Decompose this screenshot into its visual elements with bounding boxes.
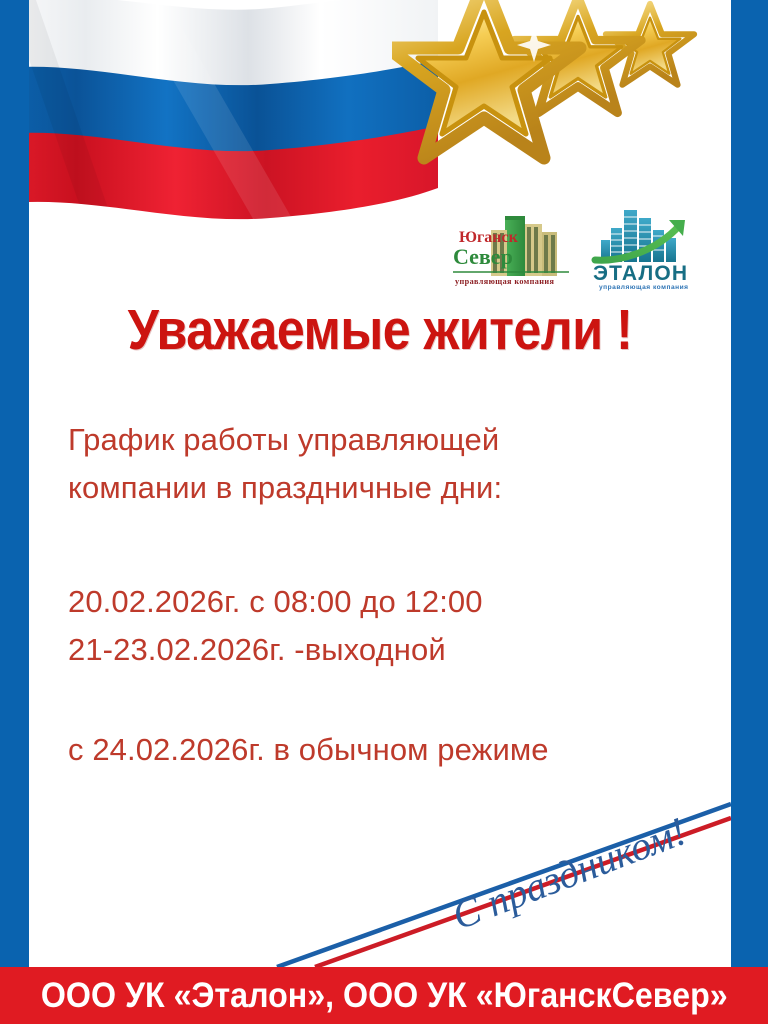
logo-yugansk-name-bottom: Север bbox=[453, 244, 513, 269]
border-right-blue bbox=[731, 0, 768, 1024]
logo-yugansk-tagline: управляющая компания bbox=[455, 277, 555, 286]
logo-etalon-name: ЭТАЛОН bbox=[593, 262, 688, 285]
intro-line-1: График работы управляющей bbox=[68, 416, 678, 464]
schedule-item: 20.02.2026г. с 08:00 до 12:00 bbox=[68, 578, 678, 626]
schedule-item: 21-23.02.2026г. -выходной bbox=[68, 626, 678, 674]
footer-company-names: ООО УК «Эталон», ООО УК «ЮганскСевер» bbox=[41, 977, 728, 1015]
intro-paragraph: График работы управляющей компании в пра… bbox=[68, 416, 678, 512]
schedule-list: 20.02.2026г. с 08:00 до 12:00 21-23.02.2… bbox=[68, 578, 678, 674]
russian-flag-icon bbox=[0, 0, 438, 274]
border-left-blue bbox=[0, 0, 29, 1024]
footer-bar: ООО УК «Эталон», ООО УК «ЮганскСевер» bbox=[0, 967, 768, 1024]
announcement-body: График работы управляющей компании в пра… bbox=[68, 416, 678, 774]
poster-canvas: Юганск Север управляющая компания bbox=[0, 0, 768, 1024]
logo-yugansk-sever: Юганск Север управляющая компания bbox=[447, 202, 575, 292]
logo-etalon-tagline: управляющая компания bbox=[599, 284, 689, 291]
greeting-script: С праздником! bbox=[446, 808, 692, 938]
page-title: Уважаемые жители ! bbox=[71, 300, 689, 360]
corner-decoration: С праздником! bbox=[29, 780, 731, 967]
intro-line-2: компании в праздничные дни: bbox=[68, 464, 678, 512]
logo-etalon: ЭТАЛОН управляющая компания bbox=[581, 200, 713, 292]
closing-note: с 24.02.2026г. в обычном режиме bbox=[68, 726, 678, 774]
company-logos: Юганск Север управляющая компания bbox=[447, 200, 723, 292]
gold-stars-icon bbox=[392, 0, 722, 184]
